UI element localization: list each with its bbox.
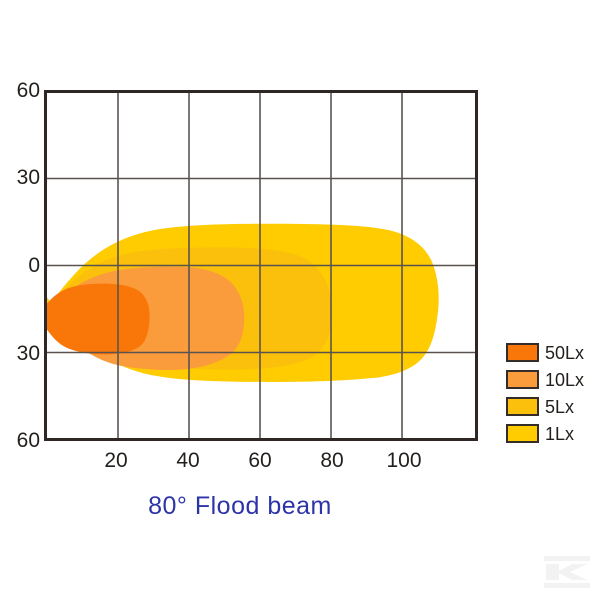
legend-swatch-5lx [506, 397, 539, 416]
y-axis-tick-30-top: 30 [0, 167, 40, 188]
legend-label-10lx: 10Lx [545, 371, 584, 389]
y-axis-tick-60-bottom: 60 [0, 430, 40, 451]
beam-pattern-figure: 60 30 0 30 60 20 40 60 80 100 80° Flood … [0, 0, 600, 600]
legend-item-10lx: 10Lx [506, 367, 584, 392]
legend-swatch-1lx [506, 424, 539, 443]
x-axis-tick-100: 100 [374, 450, 434, 471]
legend-label-1lx: 1Lx [545, 425, 574, 443]
x-axis-tick-80: 80 [302, 450, 362, 471]
chart-caption: 80° Flood beam [0, 492, 480, 521]
legend-swatch-50lx [506, 343, 539, 362]
legend-label-5lx: 5Lx [545, 398, 574, 416]
legend-item-1lx: 1Lx [506, 421, 584, 446]
beam-contours [47, 93, 475, 438]
legend-label-50lx: 50Lx [545, 344, 584, 362]
x-axis-tick-40: 40 [158, 450, 218, 471]
legend-item-5lx: 5Lx [506, 394, 584, 419]
legend-swatch-10lx [506, 370, 539, 389]
contour-50lx [47, 284, 150, 355]
y-axis-tick-60-top: 60 [0, 80, 40, 101]
legend: 50Lx 10Lx 5Lx 1Lx [506, 340, 584, 448]
logo-watermark [542, 552, 594, 592]
x-axis-tick-60: 60 [230, 450, 290, 471]
y-axis-tick-0: 0 [0, 255, 40, 276]
legend-item-50lx: 50Lx [506, 340, 584, 365]
plot-area [44, 90, 478, 441]
y-axis-tick-30-bottom: 30 [0, 343, 40, 364]
x-axis-tick-20: 20 [86, 450, 146, 471]
